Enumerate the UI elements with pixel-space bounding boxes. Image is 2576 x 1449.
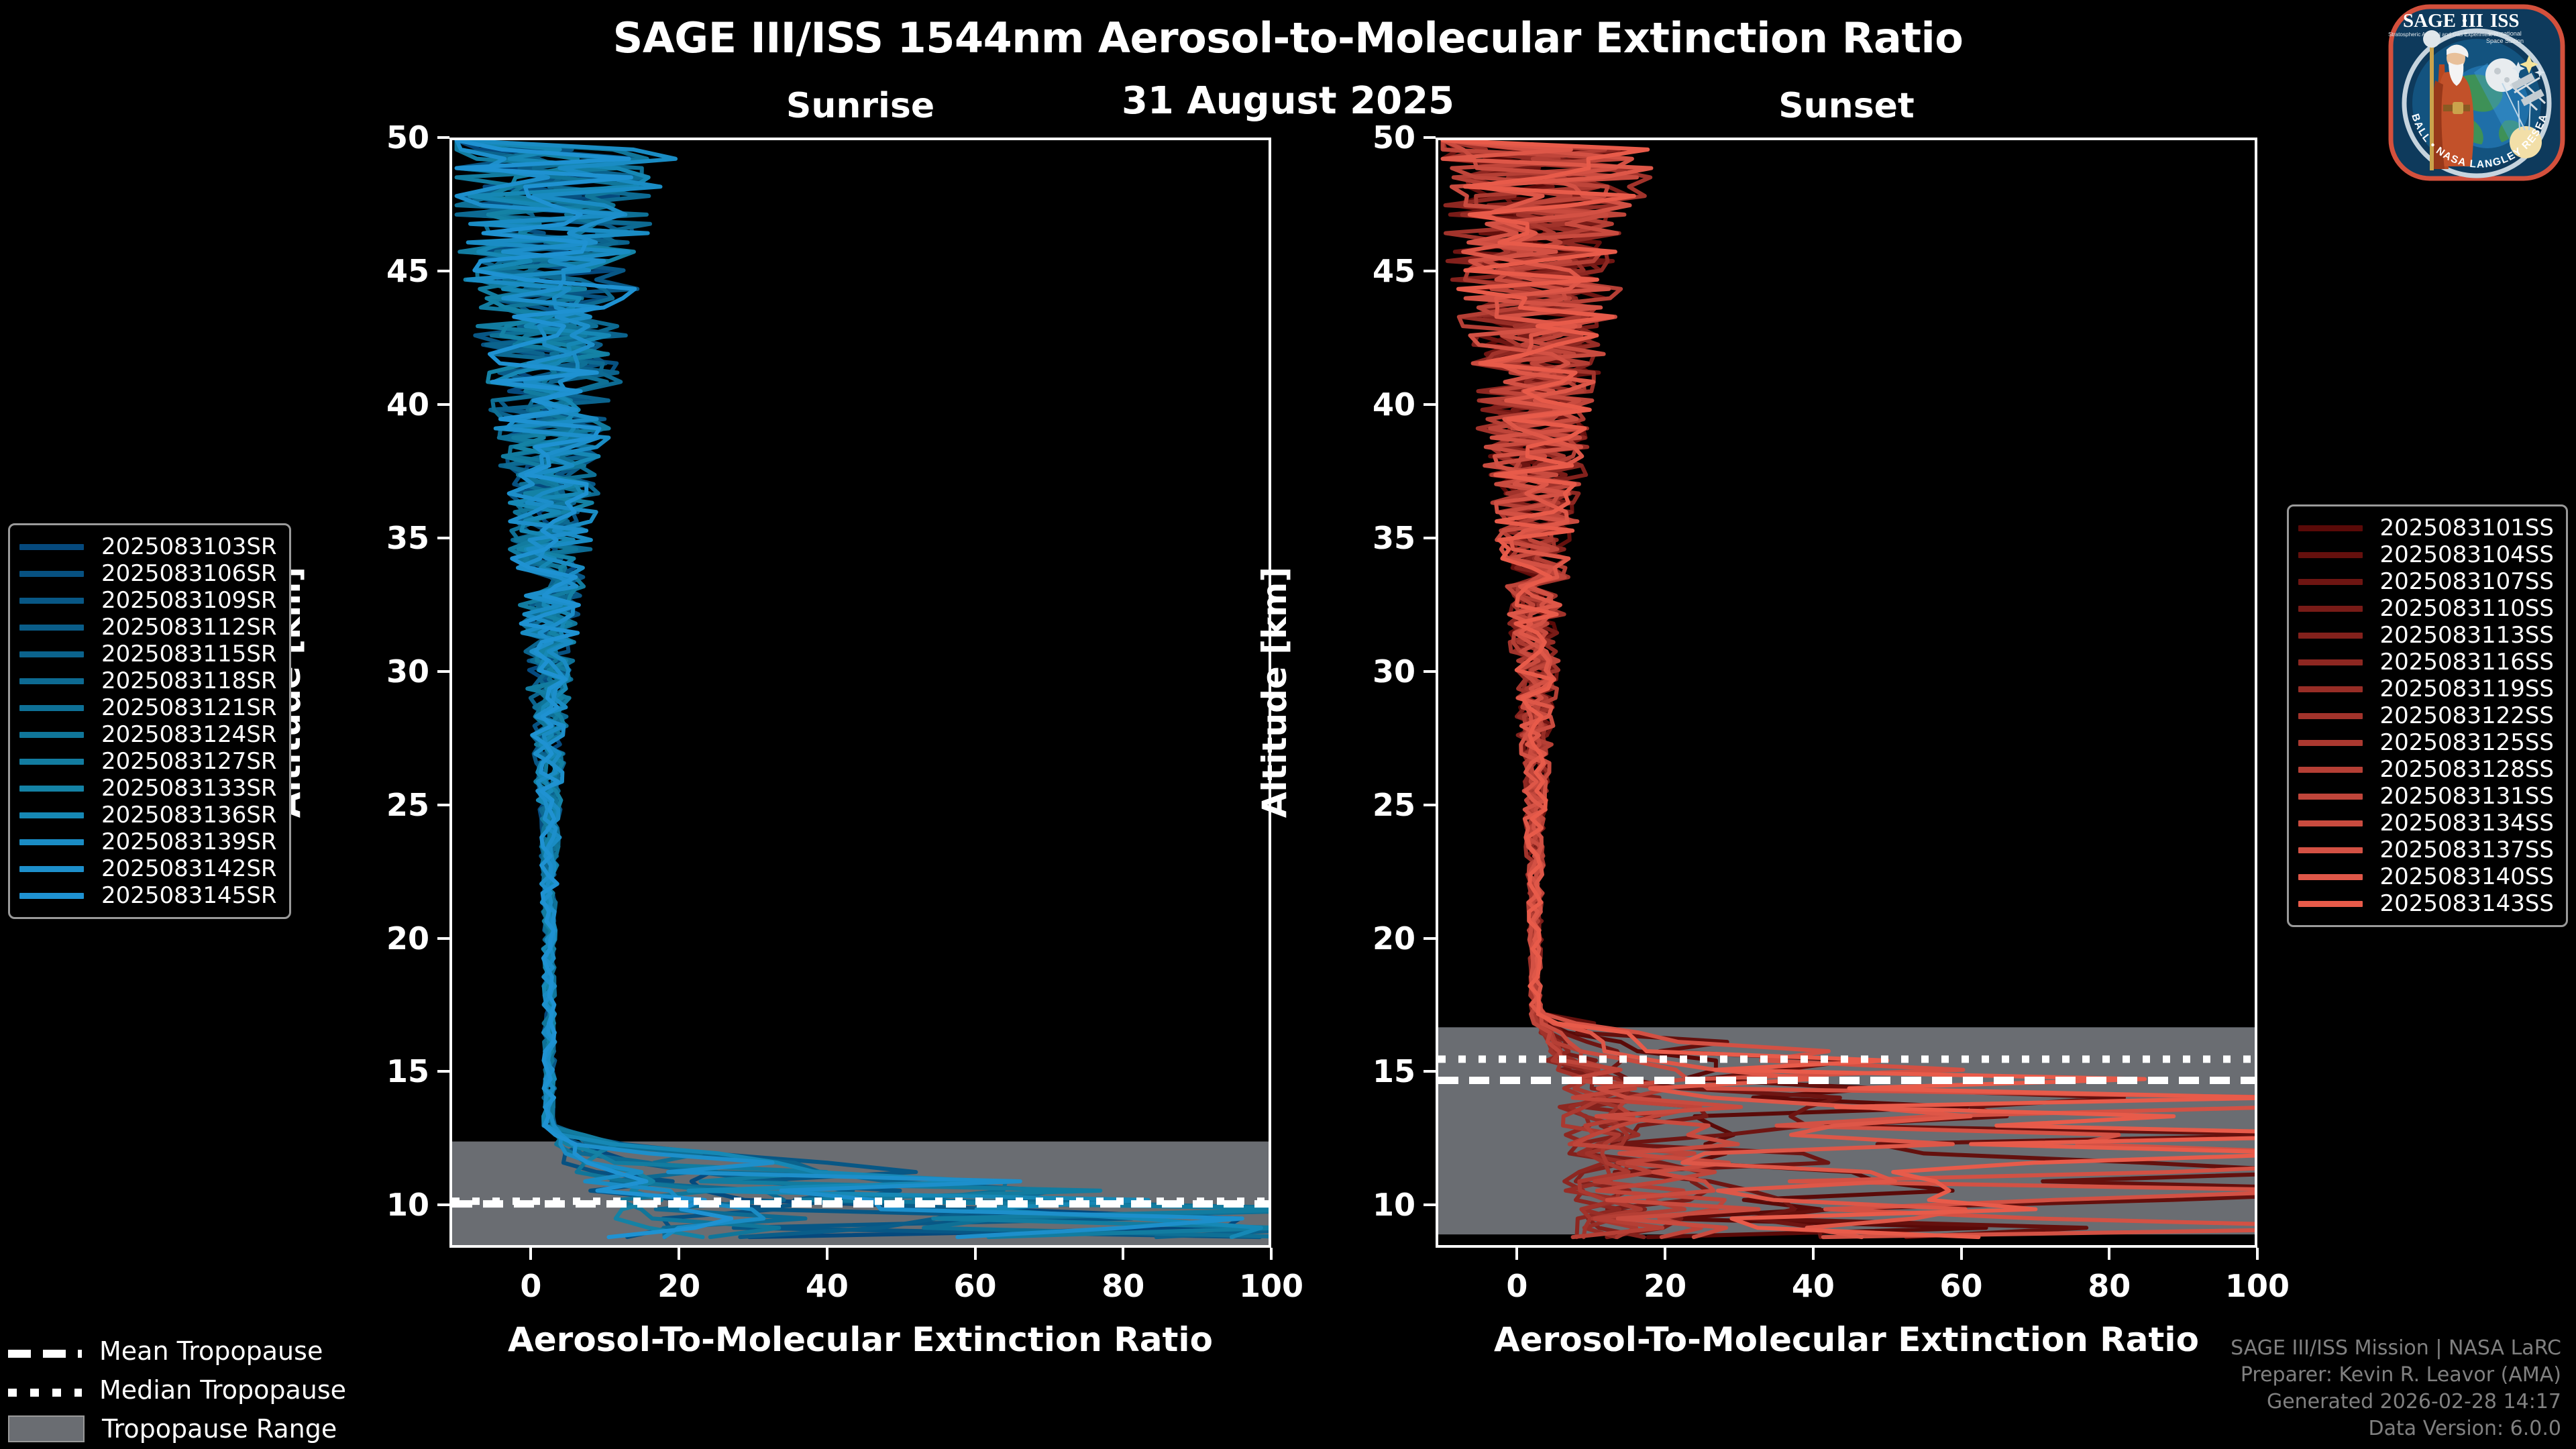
y-axis-tick bbox=[437, 537, 449, 539]
legend-item[interactable]: 2025083101SS bbox=[2298, 515, 2554, 541]
y-axis-tick-label: 15 bbox=[1322, 1053, 1415, 1089]
legend-item-label: 2025083137SS bbox=[2380, 837, 2554, 863]
tropopause-key-mean-label: Mean Tropopause bbox=[99, 1336, 323, 1366]
y-axis-tick bbox=[1424, 1070, 1436, 1073]
y-axis-tick bbox=[437, 1070, 449, 1073]
legend-item[interactable]: 2025083116SS bbox=[2298, 649, 2554, 676]
y-axis-tick-label: 25 bbox=[1322, 787, 1415, 823]
legend-color-swatch bbox=[2298, 713, 2363, 719]
legend-color-swatch bbox=[19, 786, 84, 792]
x-axis-tick-label: 40 bbox=[806, 1268, 849, 1304]
legend-item[interactable]: 2025083137SS bbox=[2298, 837, 2554, 863]
y-axis-tick bbox=[437, 1203, 449, 1206]
legend-item[interactable]: 2025083104SS bbox=[2298, 541, 2554, 568]
x-axis-tick bbox=[1270, 1248, 1273, 1260]
y-axis-tick bbox=[437, 270, 449, 272]
figure-canvas: { "title": { "main": "SAGE III/ISS 1544n… bbox=[0, 0, 2576, 1449]
legend-color-swatch bbox=[2298, 794, 2363, 800]
y-axis-tick bbox=[1424, 270, 1436, 272]
shaded-band-icon bbox=[8, 1415, 85, 1442]
y-axis-tick bbox=[1424, 670, 1436, 673]
y-axis-tick bbox=[437, 670, 449, 673]
y-axis-title: Altitude [km] bbox=[1255, 558, 1294, 826]
legend-item[interactable]: 2025083113SS bbox=[2298, 622, 2554, 649]
profile-line bbox=[457, 140, 1242, 1237]
legend-item-label: 2025083140SS bbox=[2380, 863, 2554, 890]
legend-color-swatch bbox=[19, 732, 84, 738]
x-axis-tick-label: 60 bbox=[954, 1268, 997, 1304]
legend-item-label: 2025083109SR bbox=[101, 587, 277, 614]
legend-color-swatch bbox=[2298, 686, 2363, 692]
legend-item[interactable]: 2025083125SS bbox=[2298, 729, 2554, 756]
legend-item-label: 2025083143SS bbox=[2380, 890, 2554, 917]
footer-line-version: Data Version: 6.0.0 bbox=[2231, 1415, 2561, 1442]
legend-color-swatch bbox=[19, 571, 84, 577]
legend-item[interactable]: 2025083107SS bbox=[2298, 568, 2554, 595]
legend-color-swatch bbox=[2298, 633, 2363, 639]
legend-item-label: 2025083119SS bbox=[2380, 676, 2554, 702]
legend-color-swatch bbox=[2298, 606, 2363, 612]
legend-item[interactable]: 2025083134SS bbox=[2298, 810, 2554, 837]
x-axis-title: Aerosol-To-Molecular Extinction Ratio bbox=[449, 1320, 1271, 1359]
x-axis-tick bbox=[1664, 1248, 1666, 1260]
legend-color-swatch bbox=[2298, 552, 2363, 558]
legend-item[interactable]: 2025083124SR bbox=[19, 721, 277, 748]
x-axis-tick-label: 20 bbox=[1644, 1268, 1686, 1304]
legend-item[interactable]: 2025083136SR bbox=[19, 802, 277, 828]
legend-color-swatch bbox=[19, 759, 84, 765]
legend-item[interactable]: 2025083127SR bbox=[19, 748, 277, 775]
plot-sunrise bbox=[449, 138, 1271, 1248]
legend-item-label: 2025083122SS bbox=[2380, 702, 2554, 729]
y-axis-tick-label: 10 bbox=[335, 1187, 429, 1223]
legend-item-label: 2025083116SS bbox=[2380, 649, 2554, 676]
footer-line-generated: Generated 2026-02-28 14:17 bbox=[2231, 1389, 2561, 1415]
legend-color-swatch bbox=[2298, 874, 2363, 880]
tropopause-key-range-label: Tropopause Range bbox=[102, 1414, 337, 1444]
legend-item[interactable]: 2025083112SR bbox=[19, 614, 277, 641]
legend-item-label: 2025083139SR bbox=[101, 828, 277, 855]
legend-item-label: 2025083106SR bbox=[101, 560, 277, 587]
x-axis-tick bbox=[529, 1248, 532, 1260]
legend-item-label: 2025083128SS bbox=[2380, 756, 2554, 783]
y-axis-tick bbox=[1424, 136, 1436, 139]
y-axis-tick bbox=[437, 136, 449, 139]
y-axis-tick-label: 40 bbox=[335, 386, 429, 423]
logo-title-main: SAGE III bbox=[2403, 10, 2483, 32]
legend-item-label: 2025083127SR bbox=[101, 748, 277, 775]
footer-line-preparer: Preparer: Kevin R. Leavor (AMA) bbox=[2231, 1362, 2561, 1389]
legend-item-label: 2025083125SS bbox=[2380, 729, 2554, 756]
legend-item-label: 2025083112SR bbox=[101, 614, 277, 641]
date-subtitle: 31 August 2025 bbox=[0, 79, 2576, 123]
footer-credits: SAGE III/ISS Mission | NASA LaRC Prepare… bbox=[2231, 1335, 2561, 1442]
x-axis-tick-label: 80 bbox=[2088, 1268, 2131, 1304]
tropopause-key-median: Median Tropopause bbox=[8, 1371, 346, 1409]
legend-item-label: 2025083103SR bbox=[101, 533, 277, 560]
x-axis-tick-label: 20 bbox=[657, 1268, 700, 1304]
y-axis-tick bbox=[1424, 403, 1436, 406]
legend-item[interactable]: 2025083106SR bbox=[19, 560, 277, 587]
x-axis-tick-label: 60 bbox=[1940, 1268, 1983, 1304]
x-axis-tick bbox=[2108, 1248, 2110, 1260]
legend-color-swatch bbox=[2298, 820, 2363, 826]
x-axis-tick-label: 40 bbox=[1792, 1268, 1835, 1304]
x-axis-tick-label: 100 bbox=[2225, 1268, 2290, 1304]
y-axis-tick-label: 45 bbox=[1322, 253, 1415, 289]
legend-item-label: 2025083134SS bbox=[2380, 810, 2554, 837]
y-axis-tick-label: 35 bbox=[1322, 520, 1415, 556]
legend-color-swatch bbox=[2298, 901, 2363, 907]
y-axis-tick-label: 15 bbox=[335, 1053, 429, 1089]
y-axis-tick bbox=[437, 804, 449, 806]
y-axis-tick bbox=[1424, 937, 1436, 940]
x-axis-tick bbox=[1515, 1248, 1518, 1260]
legend-color-swatch bbox=[19, 866, 84, 872]
y-axis-tick bbox=[437, 403, 449, 406]
y-axis-tick-label: 25 bbox=[335, 787, 429, 823]
y-axis-tick bbox=[1424, 537, 1436, 539]
panel-title-sunrise: Sunrise bbox=[727, 86, 995, 126]
legend-item[interactable]: 2025083115SR bbox=[19, 641, 277, 667]
x-axis-tick-label: 80 bbox=[1102, 1268, 1144, 1304]
legend-color-swatch bbox=[2298, 579, 2363, 585]
dotted-line-icon bbox=[8, 1389, 82, 1397]
legend-item-label: 2025083124SR bbox=[101, 721, 277, 748]
legend-item-label: 2025083142SR bbox=[101, 855, 277, 882]
legend-sunset[interactable]: 2025083101SS2025083104SS2025083107SS2025… bbox=[2287, 504, 2568, 927]
footer-line-mission: SAGE III/ISS Mission | NASA LaRC bbox=[2231, 1335, 2561, 1362]
x-axis-tick-label: 0 bbox=[520, 1268, 541, 1304]
panel-title-sunset: Sunset bbox=[1713, 86, 1981, 126]
legend-item[interactable]: 2025083110SS bbox=[2298, 595, 2554, 622]
legend-item[interactable]: 2025083139SR bbox=[19, 828, 277, 855]
legend-item[interactable]: 2025083145SR bbox=[19, 882, 277, 909]
x-axis-tick-label: 100 bbox=[1239, 1268, 1303, 1304]
legend-color-swatch bbox=[19, 598, 84, 604]
legend-color-swatch bbox=[2298, 740, 2363, 746]
tropopause-key-mean: Mean Tropopause bbox=[8, 1332, 346, 1371]
plot-sunset bbox=[1436, 138, 2257, 1248]
legend-color-swatch bbox=[19, 651, 84, 657]
legend-item-label: 2025083136SR bbox=[101, 802, 277, 828]
sunrise-profile-lines bbox=[452, 140, 1269, 1245]
y-axis-tick-label: 40 bbox=[1322, 386, 1415, 423]
logo-subtitle-left: Stratospheric Aerosol and Gas Experiment… bbox=[2388, 32, 2498, 38]
legend-item[interactable]: 2025083119SS bbox=[2298, 676, 2554, 702]
legend-color-swatch bbox=[2298, 767, 2363, 773]
legend-sunrise[interactable]: 2025083103SR2025083106SR2025083109SR2025… bbox=[8, 523, 291, 919]
profile-line bbox=[457, 140, 777, 1237]
y-axis-tick bbox=[1424, 1203, 1436, 1206]
y-axis-tick-label: 20 bbox=[335, 920, 429, 957]
legend-item-label: 2025083101SS bbox=[2380, 515, 2554, 541]
legend-item[interactable]: 2025083109SR bbox=[19, 587, 277, 614]
legend-color-swatch bbox=[19, 893, 84, 899]
logo-title-iss: ISS bbox=[2490, 10, 2520, 32]
y-axis-tick bbox=[437, 937, 449, 940]
legend-item-label: 2025083113SS bbox=[2380, 622, 2554, 649]
logo-subtitle-right-2: Space Station bbox=[2486, 38, 2524, 44]
legend-color-swatch bbox=[19, 678, 84, 684]
legend-item[interactable]: 2025083103SR bbox=[19, 533, 277, 560]
legend-item[interactable]: 2025083121SR bbox=[19, 694, 277, 721]
legend-item[interactable]: 2025083140SS bbox=[2298, 863, 2554, 890]
legend-color-swatch bbox=[19, 705, 84, 711]
legend-color-swatch bbox=[19, 812, 84, 818]
sunset-profile-lines bbox=[1438, 140, 2255, 1245]
legend-item-label: 2025083121SR bbox=[101, 694, 277, 721]
legend-item[interactable]: 2025083128SS bbox=[2298, 756, 2554, 783]
page-title: SAGE III/ISS 1544nm Aerosol-to-Molecular… bbox=[0, 13, 2576, 62]
legend-item-label: 2025083118SR bbox=[101, 667, 277, 694]
legend-item-label: 2025083131SS bbox=[2380, 783, 2554, 810]
legend-color-swatch bbox=[19, 625, 84, 631]
legend-color-swatch bbox=[19, 544, 84, 550]
x-axis-tick bbox=[1122, 1248, 1124, 1260]
tropopause-key-range: Tropopause Range bbox=[8, 1409, 346, 1448]
legend-item-label: 2025083115SR bbox=[101, 641, 277, 667]
x-axis-tick-label: 0 bbox=[1506, 1268, 1527, 1304]
legend-color-swatch bbox=[19, 839, 84, 845]
legend-item-label: 2025083145SR bbox=[101, 882, 277, 909]
legend-item[interactable]: 2025083122SS bbox=[2298, 702, 2554, 729]
tropopause-key-median-label: Median Tropopause bbox=[99, 1375, 346, 1405]
legend-item-label: 2025083107SS bbox=[2380, 568, 2554, 595]
sage-iii-iss-mission-patch-logo: SAGE III • ISS Stratospheric Aerosol and… bbox=[2387, 3, 2567, 182]
y-axis-tick-label: 35 bbox=[335, 520, 429, 556]
y-axis-tick-label: 50 bbox=[1322, 119, 1415, 156]
legend-color-swatch bbox=[2298, 847, 2363, 853]
tropopause-key: Mean Tropopause Median Tropopause Tropop… bbox=[8, 1332, 346, 1448]
legend-item[interactable]: 2025083118SR bbox=[19, 667, 277, 694]
x-axis-tick bbox=[2256, 1248, 2259, 1260]
x-axis-tick bbox=[678, 1248, 680, 1260]
legend-item-label: 2025083133SR bbox=[101, 775, 277, 802]
legend-item-label: 2025083110SS bbox=[2380, 595, 2554, 622]
y-axis-tick-label: 30 bbox=[1322, 653, 1415, 690]
x-axis-tick bbox=[974, 1248, 977, 1260]
legend-item-label: 2025083104SS bbox=[2380, 541, 2554, 568]
logo-subtitle-right-1: International bbox=[2488, 30, 2522, 37]
legend-item[interactable]: 2025083142SR bbox=[19, 855, 277, 882]
y-axis-tick-label: 45 bbox=[335, 253, 429, 289]
legend-item[interactable]: 2025083143SS bbox=[2298, 890, 2554, 917]
y-axis-tick-label: 10 bbox=[1322, 1187, 1415, 1223]
legend-item[interactable]: 2025083131SS bbox=[2298, 783, 2554, 810]
logo-title-dot: • bbox=[2462, 12, 2467, 29]
x-axis-tick bbox=[1812, 1248, 1815, 1260]
legend-item[interactable]: 2025083133SR bbox=[19, 775, 277, 802]
legend-color-swatch bbox=[2298, 525, 2363, 531]
dashed-line-icon bbox=[8, 1350, 82, 1358]
x-axis-title: Aerosol-To-Molecular Extinction Ratio bbox=[1436, 1320, 2257, 1359]
y-axis-tick-label: 50 bbox=[335, 119, 429, 156]
y-axis-tick-label: 30 bbox=[335, 653, 429, 690]
profile-line bbox=[457, 140, 780, 1237]
y-axis-tick bbox=[1424, 804, 1436, 806]
x-axis-tick bbox=[1960, 1248, 1963, 1260]
x-axis-tick bbox=[826, 1248, 828, 1260]
legend-color-swatch bbox=[2298, 659, 2363, 665]
y-axis-tick-label: 20 bbox=[1322, 920, 1415, 957]
